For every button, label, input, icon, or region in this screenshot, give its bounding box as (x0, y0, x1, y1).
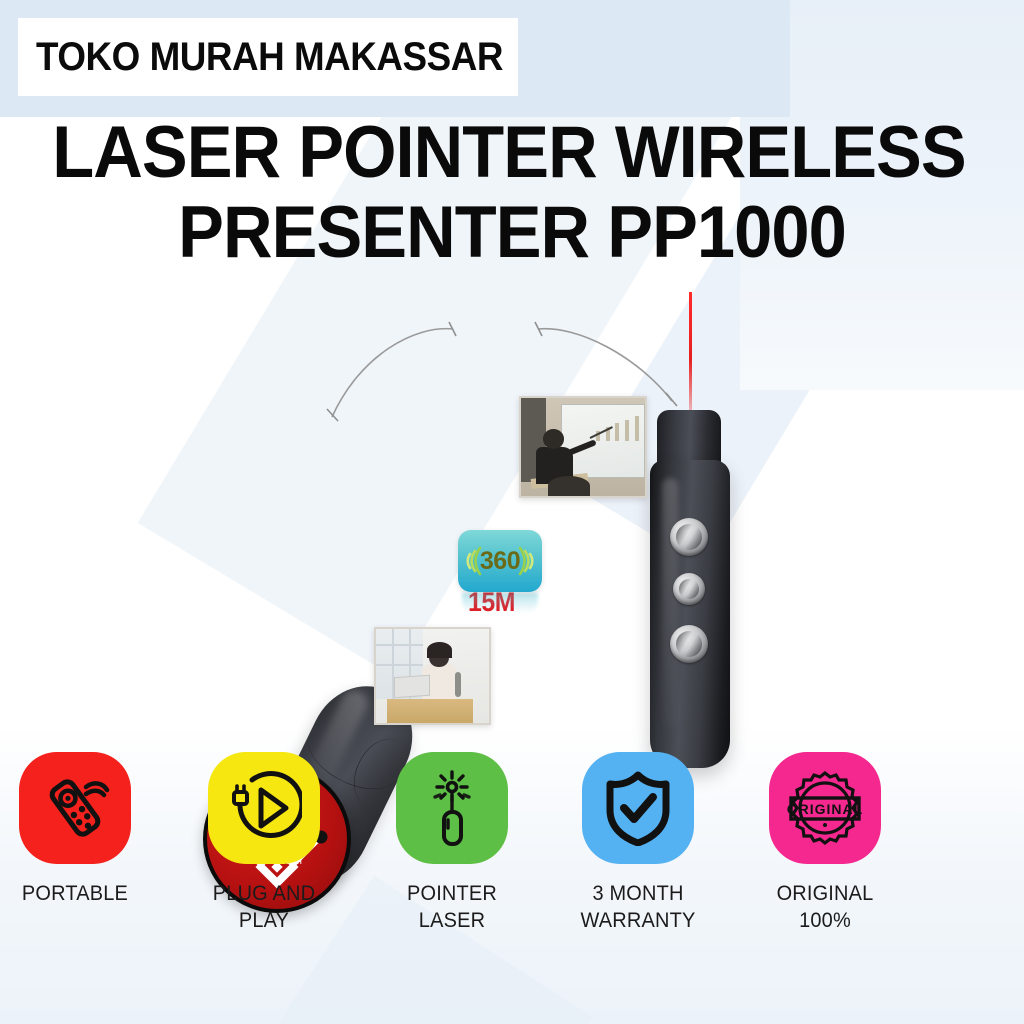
usage-photo-whiteboard (519, 396, 647, 498)
store-name-banner: TOKO MURAH MAKASSAR (18, 18, 518, 96)
plug-play-icon (226, 770, 302, 846)
store-name-text: TOKO MURAH MAKASSAR (36, 35, 503, 80)
usage-photo-podium (374, 627, 491, 725)
feature-portable: PORTABLE (0, 752, 150, 907)
feature-pointer-laser: POINTER LASER (377, 752, 527, 934)
feature-tile (396, 752, 508, 864)
photo-audience-head (548, 476, 590, 496)
presenter-highlight (662, 478, 678, 728)
photo-board (561, 404, 645, 479)
button-glyph (676, 524, 702, 550)
feature-warranty: 3 MONTH WARRANTY (563, 752, 713, 934)
rotation-360-badge: 360 (458, 530, 542, 592)
feature-label: ORIGINAL 100% (754, 880, 897, 934)
shield-check-icon (602, 770, 674, 846)
product-scene: 15M (0, 265, 1024, 755)
feature-badges-row: PORTABLE PLUG AND PLAY (0, 752, 1024, 992)
feature-original: ORIGINAL ORIGINAL 100% (750, 752, 900, 934)
laser-wand-icon (416, 770, 488, 846)
feature-tile (19, 752, 131, 864)
photo-laptop (394, 675, 430, 698)
rotation-360-label: 360 (480, 547, 520, 576)
photo-chart-bars (596, 416, 639, 441)
photo-speaker-hair (427, 642, 452, 658)
photo-microphone (455, 672, 461, 696)
rotation-360-reflection (462, 593, 538, 613)
feature-plug-and-play: PLUG AND PLAY (189, 752, 339, 934)
presenter-body (650, 460, 730, 768)
feature-label: PLUG AND PLAY (193, 880, 336, 934)
presenter-button-page-up (673, 573, 705, 605)
presenter-tip (657, 410, 721, 466)
svg-text:ORIGINAL: ORIGINAL (787, 801, 863, 817)
feature-tile: ORIGINAL (769, 752, 881, 864)
product-advertisement-card: TOKO MURAH MAKASSAR LASER POINTER WIRELE… (0, 0, 1024, 1024)
feature-label: POINTER LASER (381, 880, 524, 934)
product-title-line-2: PRESENTER PP1000 (31, 196, 994, 270)
product-title: LASER POINTER WIRELESS PRESENTER PP1000 (0, 116, 1024, 270)
feature-tile (208, 752, 320, 864)
presenter-button-page-down (670, 625, 708, 663)
original-seal-icon: ORIGINAL (785, 769, 865, 847)
feature-label: 3 MONTH WARRANTY (567, 880, 710, 934)
feature-tile (582, 752, 694, 864)
product-title-line-1: LASER POINTER WIRELESS (25, 116, 993, 190)
photo-podium (387, 699, 473, 723)
wireless-presenter-device (648, 410, 734, 770)
remote-control-icon (38, 771, 112, 845)
laser-beam (689, 292, 692, 414)
button-glyph (676, 631, 702, 657)
feature-label: PORTABLE (4, 880, 147, 907)
presenter-button-laser (670, 518, 708, 556)
button-glyph (679, 579, 699, 599)
